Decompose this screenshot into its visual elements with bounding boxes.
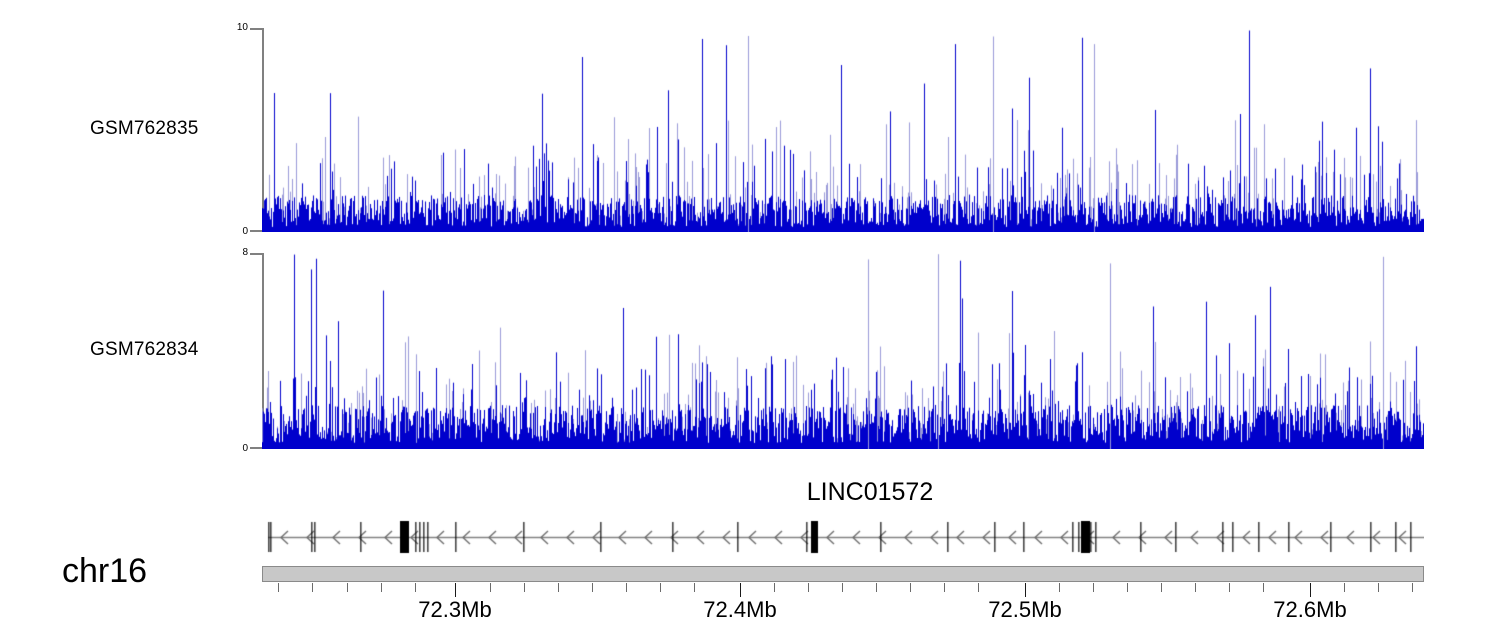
ruler-minor-tick xyxy=(910,583,911,592)
ruler-minor-tick xyxy=(558,583,559,592)
ruler-tick-label: 72.3Mb xyxy=(418,597,491,623)
ruler-minor-tick xyxy=(592,583,593,592)
ruler-minor-tick xyxy=(944,583,945,592)
ruler-minor-tick xyxy=(842,583,843,592)
ruler-minor-tick xyxy=(312,583,313,592)
ruler-minor-tick xyxy=(978,583,979,592)
coverage-canvas[interactable] xyxy=(262,28,1424,232)
gene-model-canvas[interactable] xyxy=(262,520,1424,554)
coverage-canvas[interactable] xyxy=(262,253,1424,449)
genome-browser-view: GSM762835 10 0 GSM762834 8 0 LINC01572 xyxy=(0,0,1500,640)
ruler-minor-tick xyxy=(774,583,775,592)
genomic-coordinate-ruler: 72.3Mb72.4Mb72.5Mb72.6Mb xyxy=(262,583,1424,623)
ruler-minor-tick xyxy=(1412,583,1413,592)
ruler-minor-tick xyxy=(626,583,627,592)
ruler-minor-tick xyxy=(1059,583,1060,592)
ruler-minor-tick xyxy=(1378,583,1379,592)
ruler-minor-tick xyxy=(1127,583,1128,592)
coverage-plot-gsm762834[interactable] xyxy=(262,253,1424,449)
coverage-track-gsm762835: GSM762835 10 0 xyxy=(0,28,1500,232)
coverage-plot-gsm762835[interactable] xyxy=(262,28,1424,232)
gene-label-linc01572[interactable]: LINC01572 xyxy=(720,478,1020,507)
ruler-minor-tick xyxy=(490,583,491,592)
coverage-track-gsm762834: GSM762834 8 0 xyxy=(0,253,1500,449)
ruler-minor-tick xyxy=(1263,583,1264,592)
ruler-minor-tick xyxy=(1229,583,1230,592)
ruler-minor-tick xyxy=(1344,583,1345,592)
ruler-minor-tick xyxy=(524,583,525,592)
ruler-tick-label: 72.6Mb xyxy=(1273,597,1346,623)
ruler-minor-tick xyxy=(381,583,382,592)
ruler-tick-label: 72.5Mb xyxy=(988,597,1061,623)
y-axis-min-label: 0 xyxy=(242,227,248,237)
ruler-minor-tick xyxy=(1195,583,1196,592)
track-label-gsm762834: GSM762834 xyxy=(90,339,198,361)
ruler-minor-tick xyxy=(278,583,279,592)
ruler-minor-tick xyxy=(347,583,348,592)
ruler-major-tick xyxy=(1025,583,1026,597)
ruler-minor-tick xyxy=(694,583,695,592)
ruler-major-tick xyxy=(455,583,456,597)
ruler-minor-tick xyxy=(660,583,661,592)
ruler-minor-tick xyxy=(415,583,416,592)
ruler-minor-tick xyxy=(1093,583,1094,592)
ruler-minor-tick xyxy=(808,583,809,592)
y-axis-min-label: 0 xyxy=(242,444,248,454)
ruler-minor-tick xyxy=(876,583,877,592)
chromosome-label: chr16 xyxy=(62,552,147,591)
track-label-gsm762835: GSM762835 xyxy=(90,118,198,140)
gene-annotation-track[interactable] xyxy=(262,520,1424,554)
y-axis-max-label: 8 xyxy=(242,248,248,258)
ruler-tick-label: 72.4Mb xyxy=(703,597,776,623)
ruler-minor-tick xyxy=(1161,583,1162,592)
chromosome-ideogram-bar[interactable] xyxy=(262,566,1424,582)
ruler-major-tick xyxy=(1310,583,1311,597)
y-axis-max-label: 10 xyxy=(237,23,248,33)
ruler-major-tick xyxy=(740,583,741,597)
